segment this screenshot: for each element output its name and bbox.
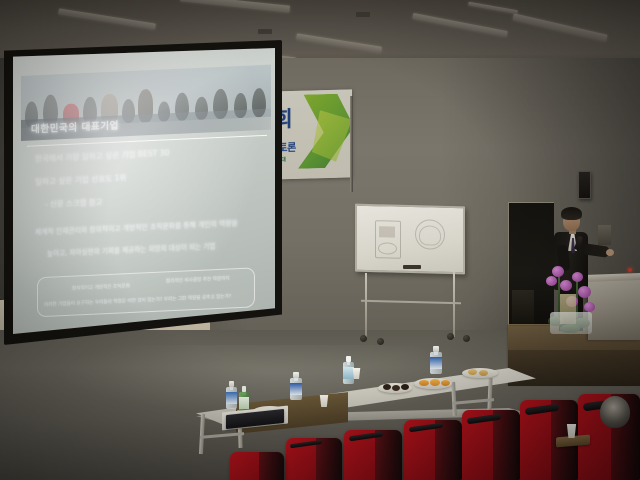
bottle-cap bbox=[242, 386, 246, 392]
orange-slice bbox=[419, 380, 429, 386]
projection-screen-surface: 대한민국의 대표기업 한국에서 가장 일하고 싶은 기업 BEST 30 일하고… bbox=[13, 48, 275, 334]
whiteboard-sketch bbox=[378, 242, 397, 254]
bottle-cap bbox=[346, 356, 351, 362]
callout-text: 이러한 기업들이 요구하는 우리들의 역량은 어떤 것이 있는가? 우리는 그런… bbox=[44, 293, 231, 308]
ceiling-vent bbox=[356, 12, 370, 17]
cookie bbox=[468, 369, 477, 375]
bottle-label bbox=[343, 367, 354, 379]
dark-fruit bbox=[392, 385, 400, 391]
water-bottle bbox=[226, 381, 237, 411]
bottle-label bbox=[430, 357, 442, 369]
audience-member bbox=[600, 396, 630, 428]
whiteboard-caster bbox=[377, 338, 384, 345]
slide-bullet: - 신문 스크랩 참고 bbox=[21, 189, 271, 211]
bottle-label bbox=[239, 397, 249, 409]
orange-plate bbox=[414, 378, 452, 389]
orchid-flower bbox=[560, 280, 572, 291]
orchid-plant bbox=[540, 258, 602, 336]
bottle-cap bbox=[293, 372, 298, 378]
fruit-plate bbox=[378, 383, 412, 393]
whiteboard-caster bbox=[447, 333, 454, 340]
whiteboard-caster bbox=[463, 335, 470, 342]
callout-text: 창의적이고 개방적인 조직문화 bbox=[72, 283, 130, 292]
whiteboard-surface bbox=[355, 204, 465, 275]
seat-side-panel bbox=[493, 410, 520, 480]
orange-slice bbox=[430, 379, 440, 386]
presenter-hair bbox=[561, 207, 582, 220]
orange-slice bbox=[441, 380, 450, 386]
ceiling-light-fixture bbox=[412, 13, 507, 37]
orchid-flower bbox=[572, 272, 583, 282]
auditorium-seat[interactable] bbox=[230, 452, 284, 480]
lecture-hall-scene: 수회 전략토론 한영공학대 bbox=[0, 0, 640, 480]
bottle-label bbox=[290, 383, 302, 395]
slide-bullet: 체계적 인재관리와 창의적이고 개방적인 조직문화를 통해 개인의 역량을 bbox=[21, 216, 271, 237]
ceiling-light-fixture bbox=[296, 33, 382, 52]
dark-fruit bbox=[401, 384, 409, 390]
bottle-cap bbox=[229, 381, 234, 387]
cookie bbox=[479, 370, 488, 376]
orchid-flower bbox=[578, 286, 591, 298]
cookie-plate bbox=[462, 368, 498, 378]
presentation-slide: 대한민국의 대표기업 한국에서 가장 일하고 싶은 기업 BEST 30 일하고… bbox=[21, 51, 271, 334]
water-bottle bbox=[290, 372, 302, 402]
seat-side-panel bbox=[435, 420, 462, 480]
slide-body: 한국에서 가장 일하고 싶은 기업 BEST 30 일하고 싶은 기업 선호도 … bbox=[21, 143, 271, 271]
whiteboard-sketch bbox=[419, 225, 441, 246]
slide-bullet: 높이고, 자아실현의 기회를 제공하는 희망의 대상이 되는 기업 bbox=[21, 238, 271, 259]
orchid-flower bbox=[584, 302, 595, 312]
orchid-pot bbox=[550, 312, 592, 334]
dark-fruit bbox=[383, 384, 391, 390]
ceiling-vent bbox=[258, 29, 272, 34]
indicator-light-icon bbox=[628, 268, 632, 272]
mobile-whiteboard bbox=[355, 205, 470, 345]
presenter-hand bbox=[606, 249, 614, 256]
seat-side-panel bbox=[259, 452, 284, 480]
whiteboard-caster bbox=[360, 335, 367, 342]
orchid-flower bbox=[546, 276, 557, 286]
bottle-cap bbox=[433, 346, 438, 352]
ceiling-light-fixture bbox=[468, 2, 518, 15]
callout-text: 합리적인 의사결정 추진 역량까지 bbox=[166, 276, 230, 285]
orchid-flower bbox=[552, 266, 564, 277]
wall-speaker bbox=[578, 171, 591, 199]
auditorium-seat[interactable] bbox=[344, 430, 402, 480]
ceiling-light-fixture bbox=[58, 8, 156, 29]
slide-callout-box: 창의적이고 개방적인 조직문화 합리적인 의사결정 추진 역량까지 이러한 기업… bbox=[37, 267, 255, 317]
stage-front-face bbox=[508, 350, 640, 386]
ceiling-light-fixture bbox=[512, 13, 607, 41]
bottle-label bbox=[226, 392, 237, 404]
water-bottle bbox=[430, 346, 442, 376]
whiteboard-crossbar bbox=[361, 300, 461, 305]
seat-side-panel bbox=[316, 438, 342, 480]
ceiling-light-fixture bbox=[180, 0, 290, 13]
auditorium-seat[interactable] bbox=[462, 410, 520, 480]
whiteboard-sketch bbox=[379, 226, 395, 237]
auditorium-seat[interactable] bbox=[404, 420, 462, 480]
slide-bullet: 한국에서 가장 일하고 싶은 기업 BEST 30 bbox=[21, 143, 271, 165]
whiteboard-leg bbox=[365, 273, 367, 337]
whiteboard-marker-tray bbox=[403, 265, 421, 269]
water-bottle bbox=[343, 356, 354, 386]
projection-screen-frame: 대한민국의 대표기업 한국에서 가장 일하고 싶은 기업 BEST 30 일하고… bbox=[4, 40, 282, 345]
auditorium-seat[interactable] bbox=[286, 438, 342, 480]
slide-bullet: 일하고 싶은 기업 선호도 1위 bbox=[21, 166, 271, 188]
banner-support-pole bbox=[350, 96, 353, 192]
seat-side-panel bbox=[375, 430, 402, 480]
